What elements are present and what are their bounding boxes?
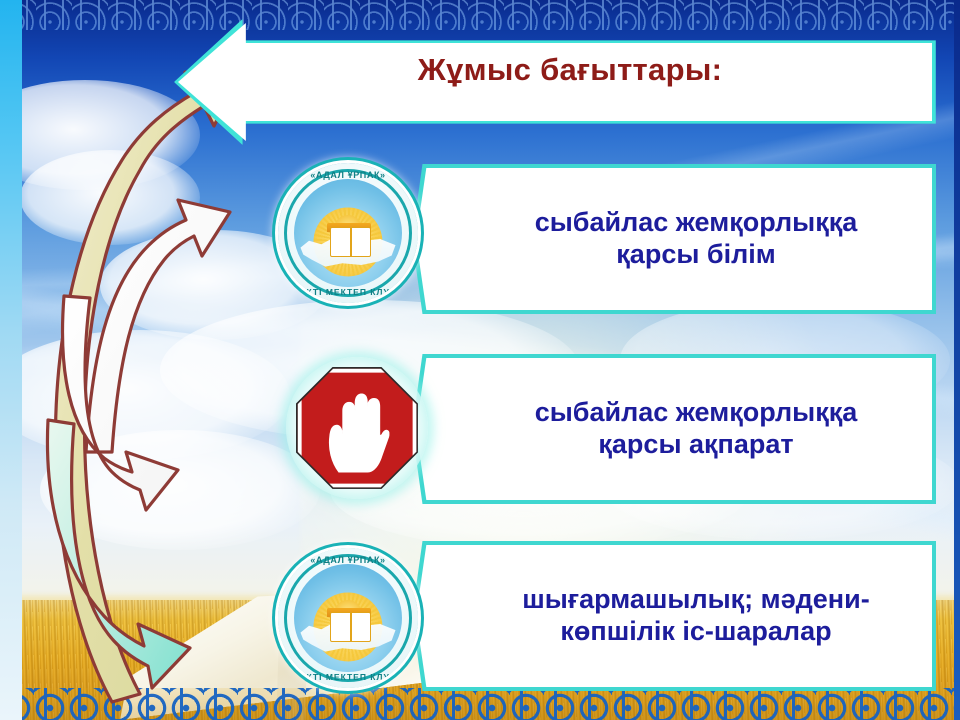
- item-label-line1: сыбайлас жемқорлыққа: [535, 397, 858, 427]
- emblem-top-text: «АДАЛ ҰРПАҚ»: [278, 555, 418, 565]
- panel-background: шығармашылық; мәдени- көпшілік іс-шарала…: [416, 545, 932, 687]
- emblem-bottom-text: ЕРІКТІ МЕКТЕП КЛУБЫ: [278, 287, 418, 297]
- panel-background: сыбайлас жемқорлыққа қарсы білім: [416, 168, 932, 310]
- page-title: Жұмыс бағыттары:: [240, 52, 900, 88]
- panel-background: сыбайлас жемқорлыққа қарсы ақпарат: [416, 358, 932, 500]
- stop-hand-sign-icon: [286, 357, 428, 499]
- open-hand-glyph: [324, 388, 389, 473]
- curved-arrow-to-item-3: [47, 420, 190, 688]
- emblem-inner-disc: [294, 564, 402, 672]
- emblem-bottom-text: ЕРІКТІ МЕКТЕП КЛУБЫ: [278, 672, 418, 682]
- item-label-education: сыбайлас жемқорлыққа қарсы білім: [416, 207, 932, 271]
- emblem-open-book: [330, 227, 371, 257]
- adal-urpaq-emblem-icon: «АДАЛ ҰРПАҚ» ЕРІКТІ МЕКТЕП КЛУБЫ: [278, 548, 418, 688]
- item-label-line2: қарсы ақпарат: [598, 429, 793, 459]
- adal-urpaq-emblem-icon: «АДАЛ ҰРПАҚ» ЕРІКТІ МЕКТЕП КЛУБЫ: [278, 163, 418, 303]
- emblem-top-text: «АДАЛ ҰРПАҚ»: [278, 170, 418, 180]
- item-label-events: шығармашылық; мәдени- көпшілік іс-шарала…: [416, 584, 932, 648]
- item-label-line1: шығармашылық; мәдени-: [522, 584, 869, 614]
- item-label-line1: сыбайлас жемқорлыққа: [535, 207, 858, 237]
- emblem-open-book: [330, 612, 371, 642]
- item-label-information: сыбайлас жемқорлыққа қарсы ақпарат: [416, 397, 932, 461]
- item-label-line2: қарсы білім: [616, 239, 775, 269]
- emblem-inner-disc: [294, 179, 402, 287]
- slide-canvas: Жұмыс бағыттары: сыбайлас жемқорлыққа қа…: [0, 0, 960, 720]
- item-label-line2: көпшілік іс-шаралар: [560, 616, 831, 646]
